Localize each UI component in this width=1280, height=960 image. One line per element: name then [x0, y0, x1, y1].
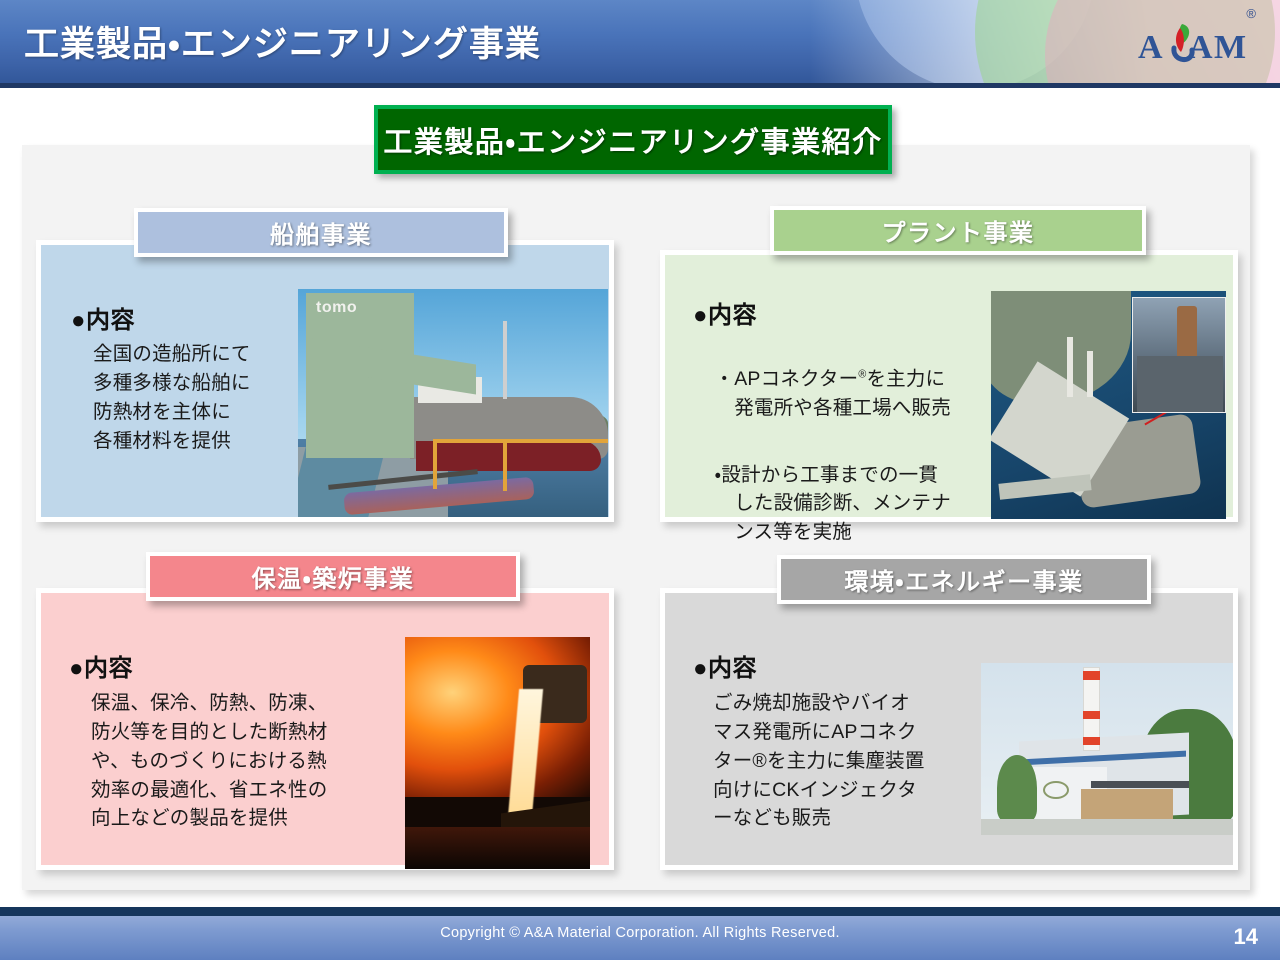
copyright-text: Copyright © A&A Material Corporation. Al…: [0, 925, 1280, 941]
panel-tab-environment[interactable]: 環境・エネルギー事業: [777, 555, 1151, 604]
panel-tab-label-environment: 環境・エネルギー事業: [844, 562, 1083, 597]
panel-ship: ●内容 全国の造船所にて 多種多様な船舶に 防熱材を主体に 各種材料を提供 to…: [36, 240, 614, 522]
page-number: 14: [1234, 924, 1258, 950]
bullet-prefix: ・: [715, 368, 735, 390]
panel-insulation: ●内容 保温、保冷、防熱、防凍、 防火等を目的とした断熱材 や、ものづくりにおけ…: [36, 588, 614, 870]
panel-tab-ship[interactable]: 船舶事業: [134, 208, 508, 257]
company-logo: ® A A M: [1136, 18, 1256, 72]
section-banner: 工業製品・エンジニアリング事業紹介: [374, 105, 892, 174]
registered-trademark-icon: ®: [1246, 6, 1256, 21]
header-bottom-rule: [0, 83, 1280, 88]
slide: 工業製品・エンジニアリング事業 ® A A M 工業製品・エンジニアリング事業紹…: [0, 0, 1280, 960]
panel-plant: ●内容 ・APコネクター®を主力に 発電所や各種工場へ販売 ・設計から工事までの…: [660, 250, 1238, 522]
aerial-power-plant-photo: [991, 291, 1226, 519]
content-heading-plant: ●内容: [693, 295, 757, 330]
svg-text:A: A: [1188, 29, 1213, 66]
content-bullets-plant: ・APコネクター®を主力に 発電所や各種工場へ販売 ・設計から工事までの一貫 し…: [695, 337, 965, 557]
molten-furnace-photo: [405, 637, 590, 869]
panel-tab-label-plant: プラント事業: [882, 213, 1035, 248]
content-body-insulation: 保温、保冷、防熱、防凍、 防火等を目的とした断熱材 や、ものづくりにおける熱 効…: [91, 689, 327, 833]
panel-tab-insulation[interactable]: 保温・築炉事業: [146, 552, 520, 601]
ship-photo-caption: tomo: [316, 299, 357, 317]
content-heading-insulation: ●内容: [69, 648, 133, 683]
content-body-environment: ごみ焼却施設やバイオ マス発電所にAPコネク ター®を主力に集塵装置 向けにCK…: [713, 689, 925, 833]
bullet-item: ・APコネクター®を主力に 発電所や各種工場へ販売: [695, 337, 965, 422]
section-banner-label: 工業製品・エンジニアリング事業紹介: [383, 119, 882, 161]
panel-tab-plant[interactable]: プラント事業: [770, 206, 1146, 255]
footer-top-rule: [0, 907, 1280, 916]
page-title: 工業製品・エンジニアリング事業: [24, 16, 541, 67]
svg-text:M: M: [1214, 29, 1246, 66]
panel-tab-label-insulation: 保温・築炉事業: [252, 559, 415, 594]
bullet-item: ・設計から工事までの一貫 した設備診断、メンテナ ンス等を実施: [695, 433, 965, 546]
ship-at-shipyard-photo: tomo: [298, 289, 608, 517]
bullet-text-before: APコネクター: [734, 368, 858, 390]
incineration-plant-photo: [981, 663, 1233, 835]
slide-header: 工業製品・エンジニアリング事業 ® A A M: [0, 0, 1280, 88]
svg-text:A: A: [1138, 29, 1163, 66]
bullet-text-before: 設計から工事までの一貫 した設備診断、メンテナ ンス等を実施: [715, 464, 951, 543]
content-heading-environment: ●内容: [693, 648, 757, 683]
slide-footer: Copyright © A&A Material Corporation. Al…: [0, 907, 1280, 960]
panel-tab-label-ship: 船舶事業: [270, 215, 372, 250]
aam-logo-icon: A A M: [1136, 18, 1256, 72]
content-heading-ship: ●内容: [71, 300, 135, 335]
content-body-ship: 全国の造船所にて 多種多様な船舶に 防熱材を主体に 各種材料を提供: [93, 340, 251, 455]
panel-environment: ●内容 ごみ焼却施設やバイオ マス発電所にAPコネク ター®を主力に集塵装置 向…: [660, 588, 1238, 870]
